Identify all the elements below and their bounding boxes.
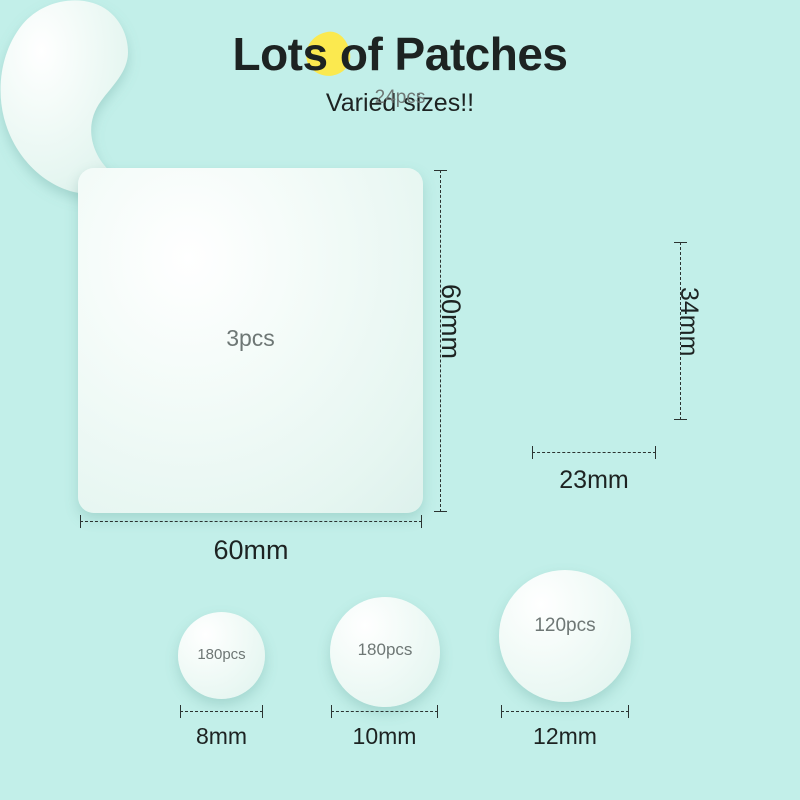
dimension-cap-right — [421, 515, 422, 528]
patch-circle-medium-count-label: 180pcs — [330, 638, 440, 662]
dimension-crescent-width-label: 23mm — [512, 463, 676, 497]
patch-circle-small: 180pcs — [178, 612, 265, 699]
patch-circle-large-count-label: 120pcs — [499, 613, 631, 639]
dimension-cap-right — [655, 446, 656, 459]
dimension-circle-small-width-label: 8mm — [160, 720, 283, 752]
dimension-crescent-height-label: 34mm — [675, 287, 703, 356]
dimension-cap-right — [628, 705, 629, 718]
dimension-cap-bottom — [674, 419, 687, 420]
dimension-dashed-line — [532, 452, 656, 453]
dimension-cap-right — [262, 705, 263, 718]
dimension-circle-medium-width-label: 10mm — [311, 720, 458, 752]
dimension-square-width-label: 60mm — [80, 532, 422, 568]
dimension-dashed-line — [501, 711, 629, 712]
dimension-circle-large-width-label: 12mm — [481, 720, 649, 752]
page-subtitle: Varied sizes!! — [0, 86, 800, 120]
dimension-cap-bottom — [434, 511, 447, 512]
title-block: Lots of Patches — [0, 26, 800, 82]
dimension-square-width — [80, 515, 422, 528]
dimension-circle-large-width — [501, 705, 629, 718]
dimension-circle-small-width — [180, 705, 263, 718]
patch-circle-large: 120pcs — [499, 570, 631, 702]
patch-square-count-label: 3pcs — [78, 323, 423, 353]
dimension-circle-medium-width — [331, 705, 438, 718]
patch-circle-small-count-label: 180pcs — [178, 644, 265, 666]
dimension-cap-right — [437, 705, 438, 718]
page-title: Lots of Patches — [0, 26, 800, 82]
product-infographic: Lots of Patches Varied sizes!! 3pcs 60mm… — [0, 0, 800, 800]
dimension-square-height-label: 60mm — [436, 284, 466, 359]
dimension-dashed-line — [80, 521, 422, 522]
dimension-dashed-line — [331, 711, 438, 712]
patch-circle-medium: 180pcs — [330, 597, 440, 707]
dimension-dashed-line — [180, 711, 263, 712]
dimension-crescent-width — [532, 446, 656, 459]
patch-square: 3pcs — [78, 168, 423, 513]
